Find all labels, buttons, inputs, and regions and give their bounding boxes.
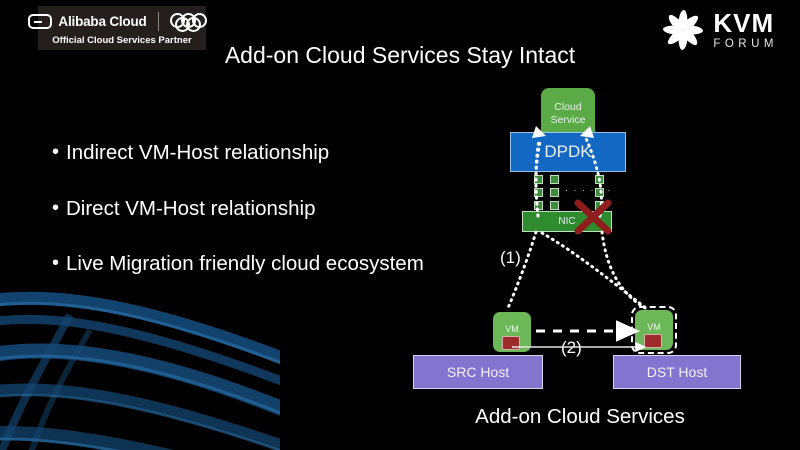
queue-square	[595, 175, 604, 184]
dotted-nic-to-dst-vm	[602, 232, 645, 308]
list-item: • Live Migration friendly cloud ecosyste…	[52, 253, 482, 276]
queue-ellipsis: · · · · · ·	[565, 185, 612, 195]
vm-src-memory-block	[502, 336, 520, 350]
step-label-two: (2)	[561, 338, 582, 358]
queue-square	[550, 175, 559, 184]
bullet-list: • Indirect VM-Host relationship • Direct…	[52, 142, 482, 309]
queue-square	[550, 201, 559, 210]
bullet-marker: •	[52, 253, 66, 274]
vm-dst-label: VM	[635, 322, 673, 332]
olympic-rings-icon	[170, 13, 216, 31]
slide-canvas: Alibaba Cloud Official Cloud Services Pa…	[0, 0, 800, 450]
queue-square	[550, 188, 559, 197]
vm-src-node: VM	[493, 312, 531, 352]
alibaba-cloud-icon	[28, 14, 52, 29]
list-item: • Direct VM-Host relationship	[52, 198, 482, 221]
kvm-logo-line1: KVM	[713, 10, 778, 36]
vm-dst-node: VM	[635, 310, 673, 350]
bullet-text: Live Migration friendly cloud ecosystem	[66, 253, 424, 276]
queue-square	[595, 201, 604, 210]
dotted-nic-to-src-vm	[508, 232, 536, 308]
dotted-crossing-path	[542, 233, 647, 309]
vm-dst-memory-block	[644, 334, 662, 348]
step-label-one: (1)	[500, 248, 521, 268]
bullet-marker: •	[52, 198, 66, 219]
bullet-text: Indirect VM-Host relationship	[66, 142, 329, 165]
vm-src-label: VM	[493, 324, 531, 334]
logo-divider	[158, 12, 159, 31]
bullet-marker: •	[52, 142, 66, 163]
queue-square	[534, 175, 543, 184]
alibaba-brand-name: Alibaba Cloud	[58, 14, 146, 29]
src-host-node: SRC Host	[413, 355, 543, 389]
bullet-text: Direct VM-Host relationship	[66, 198, 316, 221]
queue-square	[534, 201, 543, 210]
alibaba-logo-row: Alibaba Cloud	[28, 11, 215, 33]
cloud-service-line1: Cloud	[554, 101, 581, 114]
nic-node: NIC	[522, 211, 612, 232]
dpdk-node: DPDK	[510, 132, 626, 172]
bottom-caption: Add-on Cloud Services	[430, 405, 730, 429]
slide-title: Add-on Cloud Services Stay Intact	[0, 42, 800, 69]
cloud-service-line2: Service	[550, 114, 585, 127]
queue-square	[534, 188, 543, 197]
list-item: • Indirect VM-Host relationship	[52, 142, 482, 165]
dst-host-node: DST Host	[613, 355, 741, 389]
